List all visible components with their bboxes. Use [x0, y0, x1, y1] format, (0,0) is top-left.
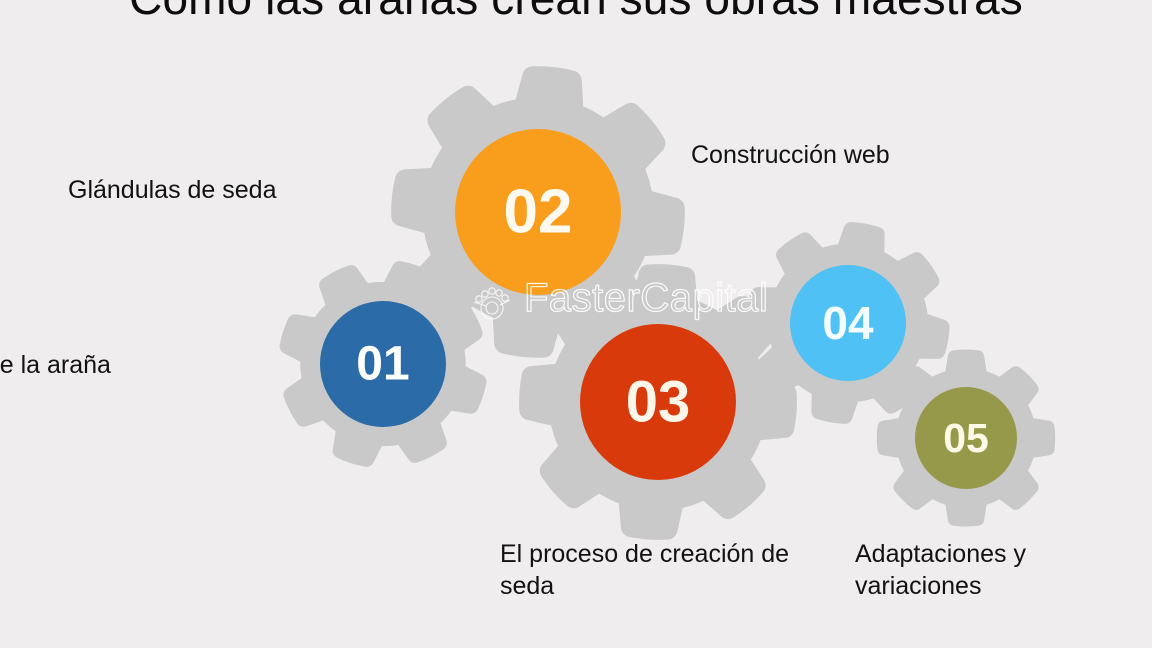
gear-05-number: 05 — [943, 415, 989, 461]
slide-canvas: Cómo las arañas crean sus obras maestras… — [0, 0, 1152, 648]
label-step-02: Glándulas de seda — [68, 174, 276, 206]
gear-03-number: 03 — [626, 370, 691, 435]
gear-02-number: 02 — [504, 178, 573, 247]
label-step-05: Adaptaciones y variaciones — [855, 538, 1085, 602]
gear-04-number: 04 — [822, 297, 874, 349]
gear-05[interactable]: 05 — [883, 356, 1049, 520]
label-step-04: Construcción web — [691, 139, 890, 171]
label-step-03: El proceso de creación de seda — [500, 538, 830, 602]
label-step-01: a de la araña — [0, 349, 111, 381]
gear-01-number: 01 — [356, 338, 409, 391]
gear-03[interactable]: 03 — [520, 265, 795, 538]
